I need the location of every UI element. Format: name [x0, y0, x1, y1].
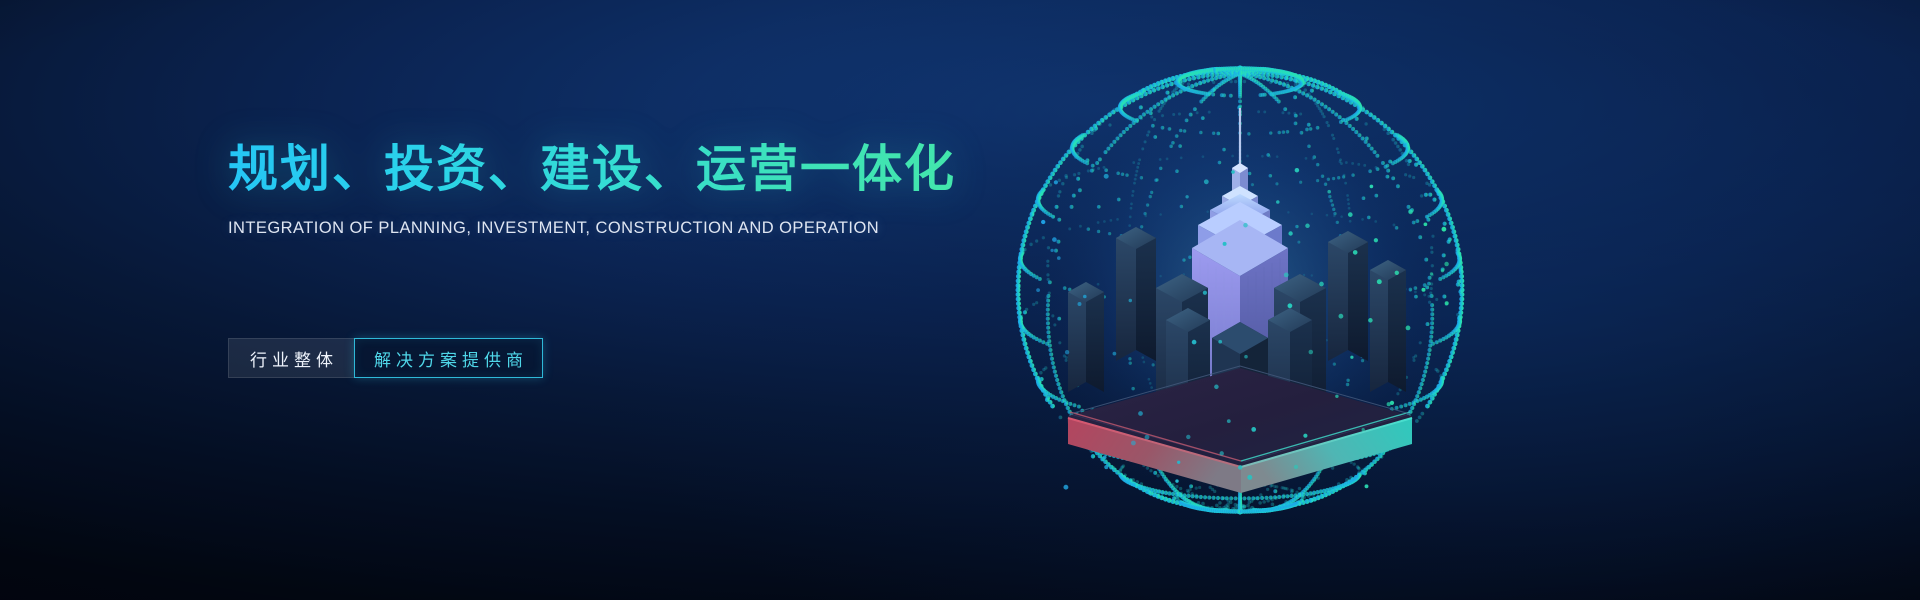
hero-banner: 规划、投资、建设、运营一体化 INTEGRATION OF PLANNING, … — [0, 0, 1920, 600]
tagline-badge: 行业整体 解决方案提供商 — [228, 338, 543, 378]
hero-copy: 规划、投资、建设、运营一体化 INTEGRATION OF PLANNING, … — [228, 140, 1048, 238]
hero-headline: 规划、投资、建设、运营一体化 — [228, 140, 1048, 199]
hero-subheadline: INTEGRATION OF PLANNING, INVESTMENT, CON… — [228, 219, 1048, 238]
badge-right-label: 解决方案提供商 — [354, 338, 543, 378]
badge-left-label: 行业整体 — [228, 338, 354, 378]
isometric-smart-city-globe-illustration — [960, 20, 1520, 580]
